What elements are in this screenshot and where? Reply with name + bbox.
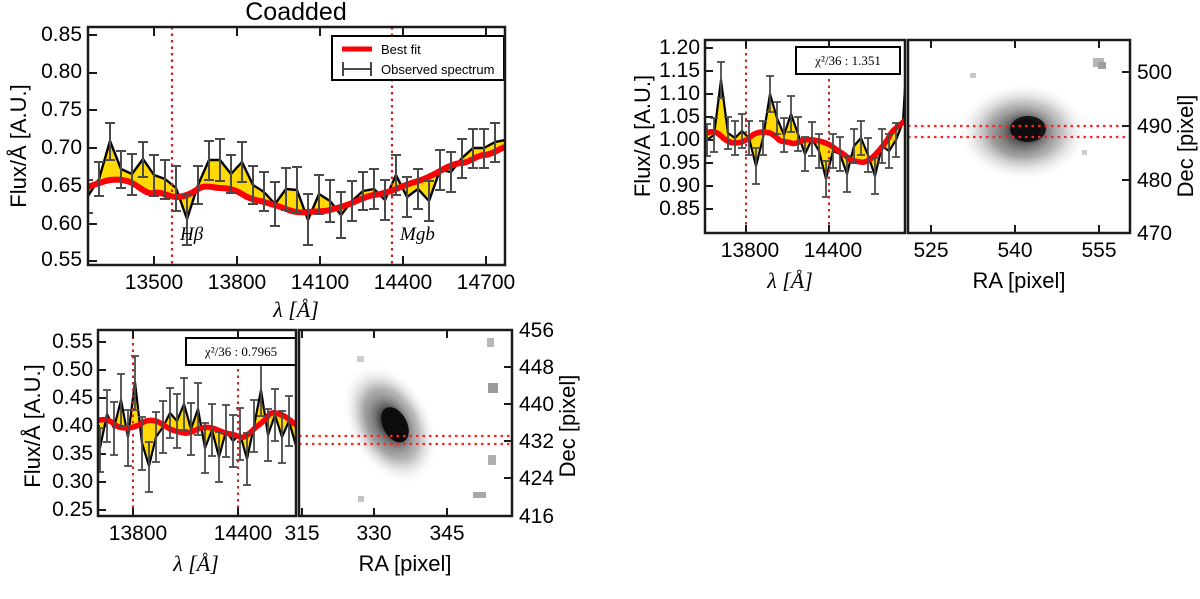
spectral-line-label-hbeta: Hβ (179, 224, 204, 245)
y-axis-label: Dec [pixel] (1173, 95, 1198, 198)
y-tick-label: 0.75 (41, 98, 82, 121)
y-tick-label: 0.90 (659, 174, 700, 197)
x-tick-label: 13800 (721, 239, 779, 262)
x-axis-label: λ [Å] (272, 297, 319, 322)
x-tick-label: 330 (356, 522, 391, 545)
x-tick-label: 555 (1081, 239, 1116, 262)
x-axis-label: RA [pixel] (359, 551, 452, 576)
y-tick-label: 1.15 (659, 59, 700, 82)
y-axis-label: Dec [pixel] (555, 375, 580, 478)
x-axis-label: λ [Å] (172, 551, 219, 576)
y-tick-label: 0.35 (52, 442, 93, 465)
y-tick-label: 0.60 (41, 212, 82, 235)
y-tick-label: 0.70 (41, 136, 82, 159)
x-tick-label: 14100 (291, 271, 349, 294)
x-tick-label: 14400 (374, 271, 432, 294)
x-tick-label: 540 (997, 239, 1032, 262)
x-axis-label: RA [pixel] (973, 268, 1066, 293)
y-tick-label: 432 (519, 430, 554, 453)
x-axis-label: λ [Å] (766, 268, 813, 293)
y-tick-label: 0.55 (52, 330, 93, 353)
y-tick-label: 500 (1137, 61, 1172, 84)
y-tick-label: 0.95 (659, 151, 700, 174)
legend-label-bestfit: Best fit (381, 42, 421, 57)
x-tick-label: 525 (913, 239, 948, 262)
legend: Best fit Observed spectrum (332, 36, 504, 80)
y-tick-label: 416 (519, 505, 554, 528)
y-tick-label: 0.85 (41, 23, 82, 46)
x-tick-label: 13800 (208, 271, 266, 294)
y-axis-label: Flux/Å [A.U.] (6, 84, 31, 207)
x-tick-label: 345 (429, 522, 464, 545)
y-tick-label: 470 (1137, 222, 1172, 245)
chi2-box: χ²/36 : 0.7965 (186, 338, 296, 365)
y-tick-label: 0.40 (52, 414, 93, 437)
x-tick-label: 14400 (214, 522, 272, 545)
y-tick-label: 0.65 (41, 174, 82, 197)
y-tick-label: 0.25 (52, 498, 93, 521)
y-axis-label: Flux/Å [A.U.] (20, 364, 45, 487)
x-tick-label: 315 (284, 522, 319, 545)
y-axis-label: Flux/A [A.U.] (630, 75, 655, 197)
y-tick-label: 0.45 (52, 386, 93, 409)
chi2-box: χ²/36 : 1.351 (796, 47, 900, 74)
y-tick-label: 440 (519, 393, 554, 416)
y-tick-label: 448 (519, 356, 554, 379)
y-tick-label: 1.10 (659, 82, 700, 105)
y-tick-label: 456 (519, 319, 554, 342)
y-tick-label: 0.85 (659, 197, 700, 220)
y-tick-label: 0.30 (52, 470, 93, 493)
x-tick-label: 14400 (804, 239, 862, 262)
chi2-label: χ²/36 : 0.7965 (204, 344, 277, 359)
y-tick-label: 0.80 (41, 60, 82, 83)
y-tick-label: 1.05 (659, 105, 700, 128)
spectral-line-label-mgb: Mgb (399, 224, 435, 245)
legend-label-observed: Observed spectrum (381, 62, 494, 77)
page-title: Coadded (245, 0, 346, 26)
x-tick-label: 14700 (457, 271, 515, 294)
x-tick-label: 13500 (125, 271, 183, 294)
y-tick-label: 490 (1137, 115, 1172, 138)
y-tick-label: 1.00 (659, 128, 700, 151)
y-tick-label: 480 (1137, 169, 1172, 192)
y-tick-label: 0.55 (41, 248, 82, 271)
y-tick-label: 0.50 (52, 358, 93, 381)
y-tick-label: 424 (519, 467, 554, 490)
figure-root: Coadded 0.85 0.80 0.75 0.70 0.65 0.60 0.… (0, 0, 1200, 599)
chi2-label: χ²/36 : 1.351 (814, 53, 881, 68)
figure-svg: Coadded 0.85 0.80 0.75 0.70 0.65 0.60 0.… (0, 0, 1200, 599)
x-tick-label: 13800 (109, 522, 167, 545)
y-tick-label: 1.20 (659, 36, 700, 59)
